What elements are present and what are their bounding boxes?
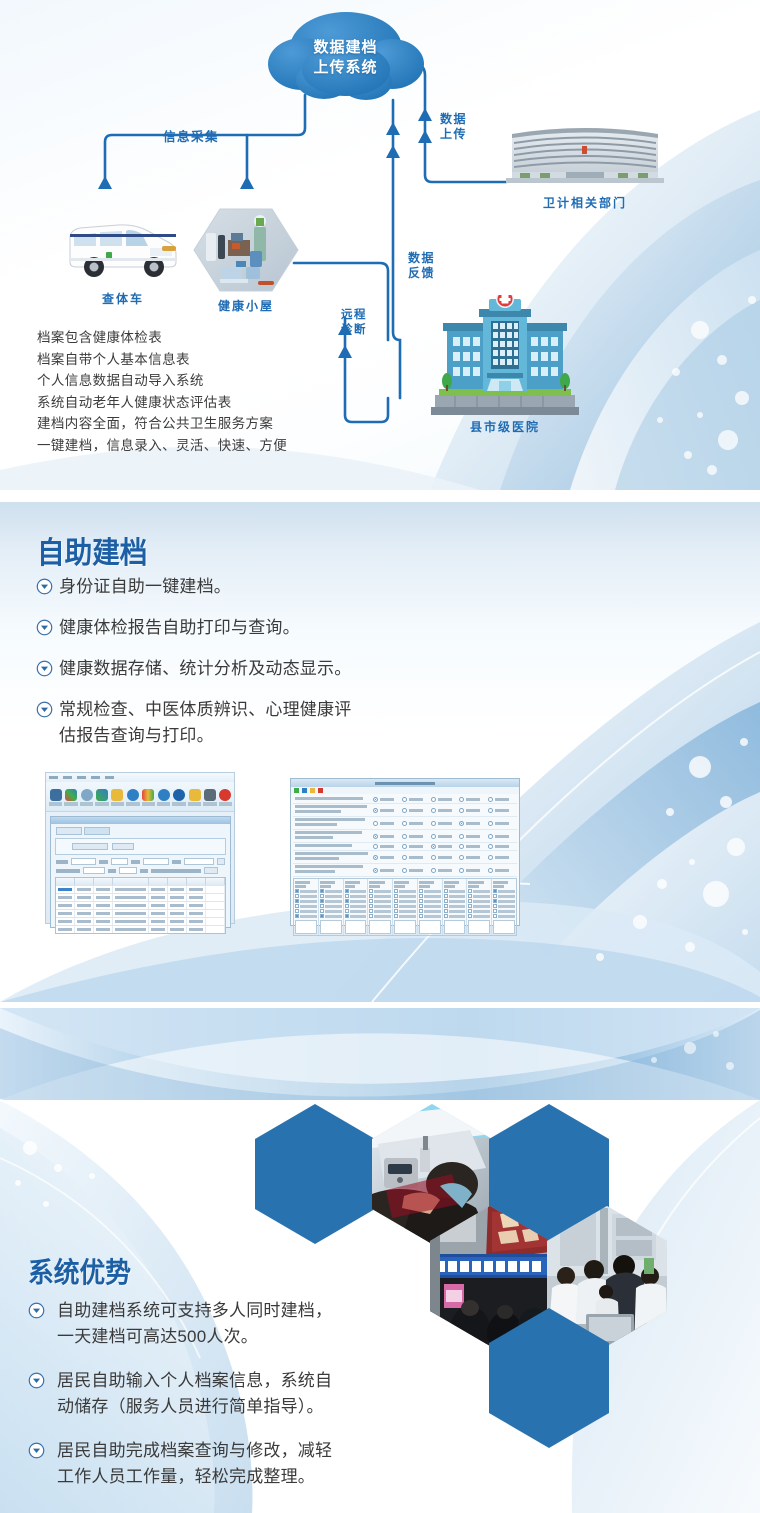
more-button[interactable] bbox=[217, 858, 225, 865]
radio-option[interactable] bbox=[373, 821, 402, 826]
type-field[interactable] bbox=[111, 858, 129, 865]
toolbar-icon-delete[interactable] bbox=[318, 788, 323, 793]
list-item-label: 健康数据存储、统计分析及动态显示。 bbox=[59, 656, 351, 682]
node-caption-health-authority: 卫计相关部门 bbox=[506, 194, 664, 211]
list-item: 健康数据存储、统计分析及动态显示。 bbox=[36, 656, 506, 682]
matrix-column bbox=[344, 879, 369, 935]
chevron-down-circle-icon bbox=[28, 1372, 45, 1389]
table-row[interactable] bbox=[56, 925, 225, 933]
cloud-label-line1: 数据建档 bbox=[258, 38, 433, 58]
radio-option[interactable] bbox=[488, 808, 517, 813]
radio-option[interactable] bbox=[373, 808, 402, 813]
question-text bbox=[293, 830, 373, 842]
status-field[interactable] bbox=[119, 867, 137, 874]
flow-label-data-feedback-l2: 反馈 bbox=[408, 266, 435, 281]
feature-item: 建档内容全面，符合公共卫生服务方案 bbox=[37, 413, 387, 435]
table-row[interactable] bbox=[56, 893, 225, 901]
output-field[interactable] bbox=[184, 858, 214, 865]
matrix-column bbox=[393, 879, 418, 935]
question-row bbox=[293, 796, 517, 804]
toolbar-icon-9[interactable] bbox=[172, 789, 185, 806]
query-button[interactable] bbox=[112, 843, 134, 850]
toolbar-icon-11[interactable] bbox=[203, 789, 216, 806]
list-item: 居民自助输入个人档案信息，系统自 动储存（服务人员进行简单指导）。 bbox=[28, 1368, 478, 1420]
matrix-column bbox=[418, 879, 443, 935]
toolbar-icon-edit[interactable] bbox=[310, 788, 315, 793]
inner-window-titlebar bbox=[51, 817, 230, 824]
radio-option[interactable] bbox=[402, 868, 431, 873]
radio-option[interactable] bbox=[488, 834, 517, 839]
section-data-archiving-diagram: 数据建档 上传系统 信息采集 数据 上传 数据 反馈 远程 诊断 bbox=[0, 0, 760, 490]
matrix-column bbox=[467, 879, 492, 935]
toolbar-icon-save[interactable] bbox=[294, 788, 299, 793]
option-group[interactable] bbox=[373, 797, 517, 802]
radio-option[interactable] bbox=[373, 868, 402, 873]
screenshot-elderly-assessment-form-window[interactable] bbox=[290, 778, 520, 926]
toolbar-icon-print[interactable] bbox=[302, 788, 307, 793]
tab-strip[interactable] bbox=[51, 824, 230, 835]
flow-label-information-collection: 信息采集 bbox=[163, 130, 219, 145]
radio-option[interactable] bbox=[373, 797, 402, 802]
inspection-van-image bbox=[62, 212, 184, 286]
filter-row-1 bbox=[51, 858, 230, 867]
poster-page: 数据建档 上传系统 信息采集 数据 上传 数据 反馈 远程 诊断 bbox=[0, 0, 760, 1513]
tab-active[interactable] bbox=[84, 827, 110, 835]
data-table[interactable] bbox=[55, 877, 226, 934]
question-text bbox=[293, 864, 373, 876]
radio-option[interactable] bbox=[488, 797, 517, 802]
option-group[interactable] bbox=[373, 834, 517, 839]
option-group[interactable] bbox=[373, 855, 517, 860]
menu-bar bbox=[46, 773, 234, 782]
archiving-feature-list: 档案包含健康体检表 档案自带个人基本信息表 个人信息数据自动导入系统 系统自动老… bbox=[37, 327, 387, 456]
table-row[interactable] bbox=[56, 909, 225, 917]
radio-option[interactable] bbox=[373, 855, 402, 860]
table-row[interactable] bbox=[56, 901, 225, 909]
question-row bbox=[293, 843, 517, 851]
toolbar-icon-5[interactable] bbox=[111, 789, 124, 806]
radio-option[interactable] bbox=[459, 844, 488, 849]
range-field[interactable] bbox=[143, 858, 169, 865]
question-text bbox=[293, 843, 373, 850]
county-hospital-image bbox=[425, 295, 585, 415]
toolbar bbox=[46, 782, 234, 812]
section-system-advantages: 系统优势 自助建档系统可支持多人同时建档， 一天建档可高达500人次。 居民自助… bbox=[0, 1008, 760, 1513]
radio-option[interactable] bbox=[431, 834, 460, 839]
inner-window bbox=[50, 816, 231, 928]
list-item-label: 身份证自助一键建档。 bbox=[59, 574, 231, 600]
table-row[interactable] bbox=[56, 885, 225, 893]
hex-solid-1 bbox=[255, 1104, 375, 1244]
query-panel bbox=[55, 838, 226, 855]
radio-option[interactable] bbox=[402, 855, 431, 860]
assessment-matrix[interactable] bbox=[293, 878, 517, 936]
toolbar-icon-2[interactable] bbox=[64, 789, 77, 806]
tab[interactable] bbox=[56, 827, 82, 835]
table-header bbox=[56, 878, 225, 885]
form-body bbox=[291, 794, 519, 938]
question-text bbox=[293, 851, 373, 863]
question-row bbox=[293, 817, 517, 830]
chevron-down-circle-icon bbox=[36, 578, 53, 595]
list-item: 身份证自助一键建档。 bbox=[36, 574, 506, 600]
radio-option[interactable] bbox=[459, 868, 488, 873]
list-item-label: 常规检查、中医体质辨识、心理健康评 估报告查询与打印。 bbox=[59, 697, 351, 749]
option-group[interactable] bbox=[373, 868, 517, 873]
section3-title: 系统优势 bbox=[28, 1251, 131, 1291]
toolbar-icon-6[interactable] bbox=[126, 789, 139, 806]
flow-label-data-upload-l1: 数据 bbox=[440, 112, 467, 127]
radio-option[interactable] bbox=[459, 797, 488, 802]
node-caption-inspection-van: 查体车 bbox=[62, 290, 184, 307]
question-row bbox=[293, 830, 517, 843]
radio-option[interactable] bbox=[402, 821, 431, 826]
matrix-column bbox=[368, 879, 393, 935]
toolbar-icon-8[interactable] bbox=[157, 789, 170, 806]
window-titlebar bbox=[291, 779, 519, 787]
feature-item: 档案包含健康体检表 bbox=[37, 327, 387, 349]
list-item-label: 健康体检报告自助打印与查询。 bbox=[59, 615, 300, 641]
list-item: 健康体检报告自助打印与查询。 bbox=[36, 615, 506, 641]
toolbar-icon-3[interactable] bbox=[80, 789, 93, 806]
section2-title: 自助建档 bbox=[37, 528, 147, 572]
screenshot-archive-management-window[interactable] bbox=[45, 772, 235, 924]
radio-option[interactable] bbox=[402, 834, 431, 839]
chevron-down-circle-icon bbox=[28, 1442, 45, 1459]
list-item: 自助建档系统可支持多人同时建档， 一天建档可高达500人次。 bbox=[28, 1298, 478, 1350]
health-cabin-image bbox=[192, 205, 300, 295]
flow-label-data-feedback-l1: 数据 bbox=[408, 251, 435, 266]
question-text bbox=[293, 804, 373, 816]
radio-option[interactable] bbox=[402, 844, 431, 849]
list-item-label: 自助建档系统可支持多人同时建档， 一天建档可高达500人次。 bbox=[57, 1298, 332, 1350]
toolbar-icon-7[interactable] bbox=[142, 789, 155, 806]
cloud-label-line2: 上传系统 bbox=[258, 58, 433, 78]
radio-option[interactable] bbox=[373, 844, 402, 849]
org-field[interactable] bbox=[71, 858, 96, 865]
radio-option[interactable] bbox=[431, 808, 460, 813]
section3-bullet-list: 自助建档系统可支持多人同时建档， 一天建档可高达500人次。 居民自助输入个人档… bbox=[28, 1298, 478, 1505]
radio-option[interactable] bbox=[373, 834, 402, 839]
matrix-column bbox=[443, 879, 468, 935]
table-row[interactable] bbox=[56, 917, 225, 925]
matrix-column bbox=[492, 879, 516, 935]
export-button[interactable] bbox=[204, 867, 218, 874]
window-toolbar bbox=[291, 787, 519, 794]
radio-option[interactable] bbox=[459, 855, 488, 860]
person-field[interactable] bbox=[83, 867, 105, 874]
toolbar-icon-1[interactable] bbox=[49, 789, 62, 806]
date-field[interactable] bbox=[72, 843, 108, 850]
option-group[interactable] bbox=[373, 821, 517, 826]
chevron-down-circle-icon bbox=[36, 660, 53, 677]
feature-item: 个人信息数据自动导入系统 bbox=[37, 370, 387, 392]
matrix-column bbox=[319, 879, 344, 935]
node-caption-county-hospital: 县市级医院 bbox=[425, 418, 585, 435]
question-text bbox=[293, 817, 373, 829]
question-row bbox=[293, 851, 517, 864]
radio-option[interactable] bbox=[402, 797, 431, 802]
radio-option[interactable] bbox=[431, 855, 460, 860]
option-group[interactable] bbox=[373, 844, 517, 849]
radio-option[interactable] bbox=[431, 868, 460, 873]
flow-label-data-feedback: 数据 反馈 bbox=[408, 251, 435, 281]
radio-option[interactable] bbox=[431, 821, 460, 826]
question-row bbox=[293, 804, 517, 817]
chevron-down-circle-icon bbox=[36, 619, 53, 636]
radio-option[interactable] bbox=[488, 844, 517, 849]
radio-option[interactable] bbox=[488, 821, 517, 826]
feature-item: 一键建档，信息录入、灵活、快速、方便 bbox=[37, 435, 387, 457]
toolbar-icon-4[interactable] bbox=[95, 789, 108, 806]
toolbar-icon-10[interactable] bbox=[188, 789, 201, 806]
list-item-label: 居民自助输入个人档案信息，系统自 动储存（服务人员进行简单指导）。 bbox=[57, 1368, 332, 1420]
radio-option[interactable] bbox=[431, 844, 460, 849]
radio-option[interactable] bbox=[459, 821, 488, 826]
radio-option[interactable] bbox=[488, 855, 517, 860]
feature-item: 系统自动老年人健康状态评估表 bbox=[37, 392, 387, 414]
question-text bbox=[293, 796, 373, 803]
matrix-column bbox=[294, 879, 319, 935]
node-caption-health-cabin: 健康小屋 bbox=[192, 297, 300, 314]
radio-option[interactable] bbox=[459, 808, 488, 813]
section2-bullet-list: 身份证自助一键建档。 健康体检报告自助打印与查询。 健康数据存储、统计分析及动态… bbox=[36, 574, 506, 764]
toolbar-icon-12[interactable] bbox=[219, 789, 232, 806]
radio-option[interactable] bbox=[488, 868, 517, 873]
option-group[interactable] bbox=[373, 808, 517, 813]
cloud-label: 数据建档 上传系统 bbox=[258, 38, 433, 78]
feature-item: 档案自带个人基本信息表 bbox=[37, 349, 387, 371]
radio-option[interactable] bbox=[402, 808, 431, 813]
health-authority-building-image bbox=[506, 120, 664, 190]
question-row bbox=[293, 864, 517, 877]
chevron-down-circle-icon bbox=[36, 701, 53, 718]
chevron-down-circle-icon bbox=[28, 1302, 45, 1319]
list-item: 常规检查、中医体质辨识、心理健康评 估报告查询与打印。 bbox=[36, 697, 506, 749]
filter-row-2 bbox=[51, 867, 230, 876]
flow-label-remote-diagnosis-l1: 远程 bbox=[341, 308, 367, 323]
flow-label-data-upload-l2: 上传 bbox=[440, 127, 467, 142]
radio-option[interactable] bbox=[431, 797, 460, 802]
radio-option[interactable] bbox=[459, 834, 488, 839]
cloud-node-data-archiving-system: 数据建档 上传系统 bbox=[258, 8, 433, 113]
list-item-label: 居民自助完成档案查询与修改，减轻 工作人员工作量，轻松完成整理。 bbox=[57, 1438, 332, 1490]
list-item: 居民自助完成档案查询与修改，减轻 工作人员工作量，轻松完成整理。 bbox=[28, 1438, 478, 1490]
flow-label-data-upload: 数据 上传 bbox=[440, 112, 467, 142]
